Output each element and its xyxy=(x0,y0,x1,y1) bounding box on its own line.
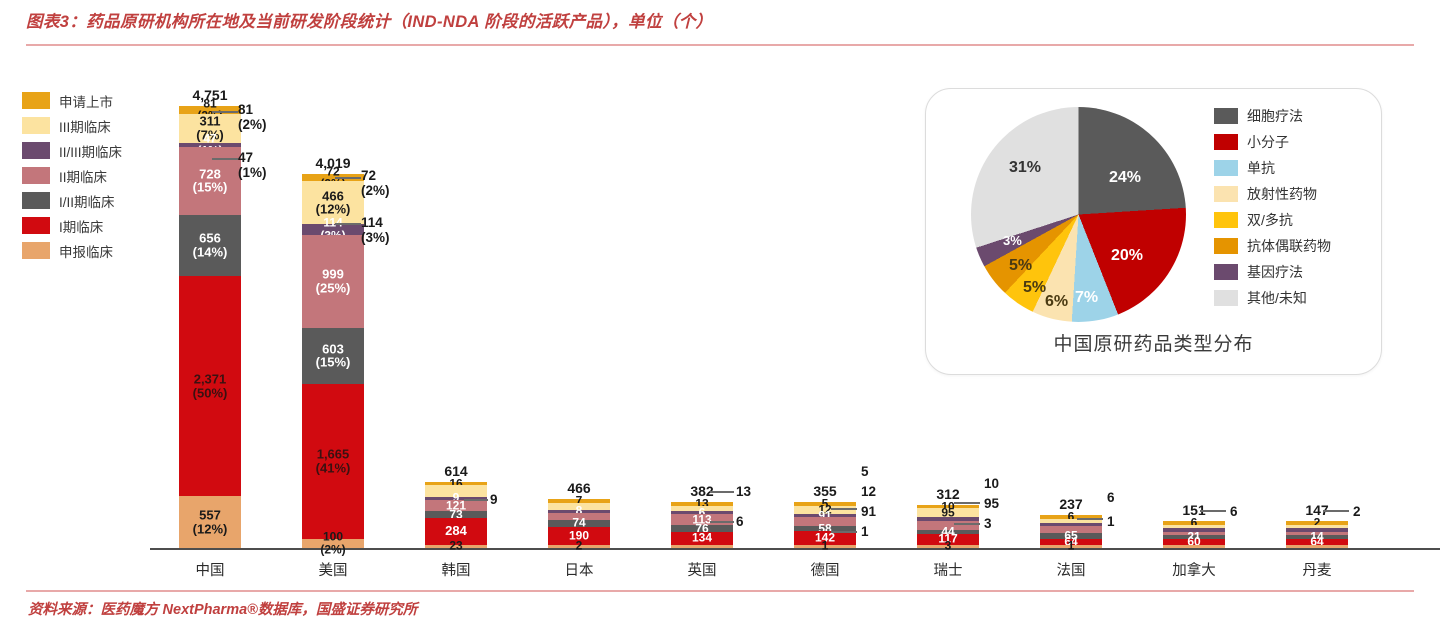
bar-segment[interactable] xyxy=(548,513,610,520)
bar-chart-legend: 申请上市III期临床II/III期临床II期临床I/II期临床I期临床申报临床 xyxy=(22,88,122,263)
pie-chart-card: 中国原研药品类型分布 细胞疗法小分子单抗放射性药物双/多抗抗体偶联药物基因疗法其… xyxy=(925,88,1382,375)
x-axis-label: 日本 xyxy=(548,559,610,580)
legend-item: III期临床 xyxy=(22,113,122,138)
callout-leader-line xyxy=(710,491,734,493)
bar-total-label: 466 xyxy=(548,480,610,496)
bar-group: 14721464丹麦 xyxy=(1257,521,1377,548)
bar-group: 6141691217328423韩国 xyxy=(396,482,516,548)
segment-value-label: 117 xyxy=(917,533,979,546)
bar-segment[interactable]: 2 xyxy=(548,545,610,549)
segment-callout-label: 1 xyxy=(861,524,869,539)
pie-legend-item: 双/多抗 xyxy=(1214,207,1331,233)
pie-chart-legend: 细胞疗法小分子单抗放射性药物双/多抗抗体偶联药物基因疗法其他/未知 xyxy=(1214,103,1331,311)
pie-legend-label: 双/多抗 xyxy=(1247,210,1293,230)
x-axis-label: 英国 xyxy=(671,559,733,580)
callout-leader-line xyxy=(710,521,734,523)
bar-segment[interactable]: 23 xyxy=(425,545,487,549)
bar-segment[interactable]: 100 (2%) xyxy=(302,539,364,548)
segment-callout-label: 2 xyxy=(1353,504,1361,519)
pie-slice-label: 24% xyxy=(1109,169,1141,187)
pie-slice-label: 3% xyxy=(1003,233,1022,248)
bar-segment[interactable] xyxy=(548,503,610,510)
segment-value-label: 1,665 (41%) xyxy=(302,448,364,475)
stacked-bar[interactable]: 3121095441173瑞士 xyxy=(917,505,979,548)
callout-leader-line xyxy=(335,223,361,225)
stacked-bar[interactable]: 4,01972 (2%)466 (12%)114 (3%)999 (25%)60… xyxy=(302,174,364,548)
segment-callout-label: 13 xyxy=(736,484,751,499)
pie-legend-label: 放射性药物 xyxy=(1247,184,1317,204)
header-divider xyxy=(26,44,1414,46)
pie-legend-label: 抗体偶联药物 xyxy=(1247,236,1331,256)
pie-slice-label: 5% xyxy=(1009,257,1032,275)
bar-segment[interactable]: 76 xyxy=(671,525,733,532)
bar-segment[interactable]: 74 xyxy=(548,520,610,527)
x-axis-label: 丹麦 xyxy=(1286,559,1348,580)
segment-value-label: 311 (7%) xyxy=(179,114,241,141)
pie-slice-label: 31% xyxy=(1009,159,1041,177)
segment-callout-label: 1 xyxy=(1107,514,1115,529)
pie-legend-label: 细胞疗法 xyxy=(1247,106,1303,126)
bar-segment[interactable]: 1 xyxy=(1040,545,1102,549)
stacked-bar[interactable]: 14721464丹麦 xyxy=(1286,521,1348,548)
pie-legend-label: 单抗 xyxy=(1247,158,1275,178)
segment-value-label: 603 (15%) xyxy=(302,342,364,369)
pie-legend-item: 放射性药物 xyxy=(1214,181,1331,207)
segment-value-label: 557 (12%) xyxy=(179,508,241,535)
callout-leader-line xyxy=(954,523,980,525)
segment-value-label: 2,371 (50%) xyxy=(179,372,241,399)
bar-total-label: 312 xyxy=(917,486,979,502)
pie-legend-item: 其他/未知 xyxy=(1214,285,1331,311)
segment-callout-label: 6 xyxy=(1107,490,1115,505)
bar-segment[interactable]: 117 xyxy=(917,534,979,545)
stacked-bar[interactable]: 38213611376134英国 xyxy=(671,502,733,548)
bar-segment[interactable] xyxy=(425,485,487,496)
pie-legend-label: 小分子 xyxy=(1247,132,1289,152)
segment-callout-label: 91 xyxy=(861,504,876,519)
bar-segment[interactable]: 73 xyxy=(425,511,487,518)
stacked-bar[interactable]: 15162160加拿大 xyxy=(1163,521,1225,548)
pie-legend-item: 小分子 xyxy=(1214,129,1331,155)
x-axis-label: 中国 xyxy=(179,559,241,580)
pie-legend-swatch-icon xyxy=(1214,290,1238,306)
segment-callout-label: 81 (2%) xyxy=(238,102,267,132)
pie-legend-item: 细胞疗法 xyxy=(1214,103,1331,129)
bar-total-label: 237 xyxy=(1040,496,1102,512)
pie-legend-swatch-icon xyxy=(1214,160,1238,176)
source-note: 资料来源：医药魔方 NextPharma®数据库，国盛证券研究所 xyxy=(28,598,417,619)
legend-label: 申报临床 xyxy=(59,241,113,261)
pie-legend-item: 抗体偶联药物 xyxy=(1214,233,1331,259)
legend-swatch-icon xyxy=(22,192,50,209)
callout-leader-line xyxy=(831,531,857,533)
callout-leader-line xyxy=(212,158,238,160)
x-axis-label: 美国 xyxy=(302,559,364,580)
bar-total-label: 355 xyxy=(794,483,856,499)
segment-callout-label: 10 xyxy=(984,476,999,491)
x-axis-label: 加拿大 xyxy=(1163,559,1225,580)
bar-segment[interactable]: 603 (15%) xyxy=(302,328,364,384)
segment-value-label: 142 xyxy=(794,532,856,545)
legend-label: I期临床 xyxy=(59,216,103,236)
bar-group: 38213611376134英国 xyxy=(642,502,762,548)
pie-slice-label: 20% xyxy=(1111,247,1143,265)
bar-group: 46678741902日本 xyxy=(519,499,639,548)
bar-segment[interactable]: 2,371 (50%) xyxy=(179,276,241,497)
segment-callout-label: 6 xyxy=(1230,504,1238,519)
bar-segment[interactable]: 3 xyxy=(917,545,979,549)
footer-divider xyxy=(26,590,1414,592)
page-title: 图表3：药品原研机构所在地及当前研发阶段统计（IND-NDA 阶段的活跃产品），… xyxy=(26,8,1420,32)
bar-segment[interactable]: 190 xyxy=(548,527,610,545)
bar-segment[interactable]: 466 (12%) xyxy=(302,181,364,224)
legend-swatch-icon xyxy=(22,142,50,159)
bar-total-label: 614 xyxy=(425,463,487,479)
legend-item: 申报临床 xyxy=(22,238,122,263)
pie-legend-item: 单抗 xyxy=(1214,155,1331,181)
bar-segment[interactable] xyxy=(1163,545,1225,549)
callout-leader-line xyxy=(212,111,238,113)
legend-swatch-icon xyxy=(22,242,50,259)
bar-total-label: 4,019 xyxy=(302,155,364,171)
pie-legend-label: 其他/未知 xyxy=(1247,288,1307,308)
bar-segment[interactable]: 311 (7%) xyxy=(179,114,241,143)
segment-callout-label: 9 xyxy=(490,492,498,507)
segment-callout-label: 6 xyxy=(736,514,744,529)
bar-segment[interactable] xyxy=(671,545,733,549)
x-axis-line xyxy=(150,548,1440,550)
callout-leader-line xyxy=(954,502,980,504)
legend-swatch-icon xyxy=(22,117,50,134)
bar-segment[interactable]: 114 (3%) xyxy=(302,224,364,235)
stacked-bar[interactable]: 4,75181 (2%)311 (7%)47 (1%)728 (15%)656 … xyxy=(179,106,241,548)
segment-callout-label: 95 xyxy=(984,496,999,511)
bar-segment[interactable]: 12 xyxy=(794,506,856,514)
bar-segment[interactable]: 121 xyxy=(425,500,487,511)
callout-leader-line xyxy=(831,508,857,510)
legend-label: I/II期临床 xyxy=(59,191,115,211)
stacked-bar[interactable]: 46678741902日本 xyxy=(548,499,610,548)
segment-value-label: 728 (15%) xyxy=(179,167,241,194)
stacked-bar-chart: 4,75181 (2%)311 (7%)47 (1%)728 (15%)656 … xyxy=(150,80,910,550)
x-axis-label: 德国 xyxy=(794,559,856,580)
callout-leader-line xyxy=(335,177,361,179)
segment-value-label: 466 (12%) xyxy=(302,189,364,216)
pie-legend-swatch-icon xyxy=(1214,264,1238,280)
segment-callout-label: 72 (2%) xyxy=(361,168,390,198)
segment-value-label: 999 (25%) xyxy=(302,268,364,295)
pie-legend-swatch-icon xyxy=(1214,186,1238,202)
bar-segment[interactable]: 656 (14%) xyxy=(179,215,241,276)
legend-item: 申请上市 xyxy=(22,88,122,113)
legend-swatch-icon xyxy=(22,217,50,234)
segment-value-label: 134 xyxy=(671,532,733,545)
legend-label: II/III期临床 xyxy=(59,141,122,161)
segment-callout-label: 5 xyxy=(861,464,869,479)
callout-leader-line xyxy=(464,499,488,501)
legend-item: I/II期临床 xyxy=(22,188,122,213)
segment-value-label: 284 xyxy=(425,524,487,538)
bar-segment[interactable]: 142 xyxy=(794,531,856,544)
legend-swatch-icon xyxy=(22,167,50,184)
legend-item: I期临床 xyxy=(22,213,122,238)
pie-legend-swatch-icon xyxy=(1214,108,1238,124)
bar-group: 15162160加拿大 xyxy=(1134,521,1254,548)
pie-legend-swatch-icon xyxy=(1214,134,1238,150)
stacked-bar[interactable]: 6141691217328423韩国 xyxy=(425,482,487,548)
callout-leader-line xyxy=(1077,518,1103,520)
pie-slice-label: 7% xyxy=(1075,289,1098,307)
pie-chart-title: 中国原研药品类型分布 xyxy=(926,329,1381,356)
bar-segment[interactable]: 557 (12%) xyxy=(179,496,241,548)
bar-segment[interactable]: 999 (25%) xyxy=(302,235,364,328)
legend-item: II期临床 xyxy=(22,163,122,188)
pie-legend-label: 基因疗法 xyxy=(1247,262,1303,282)
bar-segment[interactable]: 95 xyxy=(917,508,979,517)
bar-total-label: 4,751 xyxy=(179,87,241,103)
x-axis-label: 法国 xyxy=(1040,559,1102,580)
bar-segment[interactable]: 134 xyxy=(671,532,733,544)
legend-item: II/III期临床 xyxy=(22,138,122,163)
x-axis-label: 瑞士 xyxy=(917,559,979,580)
legend-label: 申请上市 xyxy=(59,91,113,111)
bar-segment[interactable]: 113 xyxy=(671,514,733,525)
pie-legend-swatch-icon xyxy=(1214,212,1238,228)
segment-callout-label: 12 xyxy=(861,484,876,499)
x-axis-label: 韩国 xyxy=(425,559,487,580)
pie-slice-label: 6% xyxy=(1045,293,1068,311)
legend-swatch-icon xyxy=(22,92,50,109)
bar-segment[interactable]: 1,665 (41%) xyxy=(302,384,364,539)
legend-label: II期临床 xyxy=(59,166,107,186)
pie-legend-item: 基因疗法 xyxy=(1214,259,1331,285)
bar-segment[interactable] xyxy=(794,517,856,525)
callout-leader-line xyxy=(1323,510,1349,512)
callout-leader-line xyxy=(1200,510,1226,512)
pie-legend-swatch-icon xyxy=(1214,238,1238,254)
segment-callout-label: 114 (3%) xyxy=(361,215,390,245)
stacked-bar[interactable]: 237665641法国 xyxy=(1040,515,1102,548)
bar-segment[interactable] xyxy=(1286,545,1348,549)
segment-value-label: 656 (14%) xyxy=(179,231,241,258)
legend-label: III期临床 xyxy=(59,116,111,136)
bar-segment[interactable]: 284 xyxy=(425,518,487,544)
pie-slice-label: 5% xyxy=(1023,279,1046,297)
segment-callout-label: 3 xyxy=(984,516,992,531)
segment-callout-label: 47 (1%) xyxy=(238,150,267,180)
bar-segment[interactable]: 1 xyxy=(794,545,856,549)
segment-value-label: 190 xyxy=(548,529,610,542)
segment-value-label: 121 xyxy=(425,499,487,512)
